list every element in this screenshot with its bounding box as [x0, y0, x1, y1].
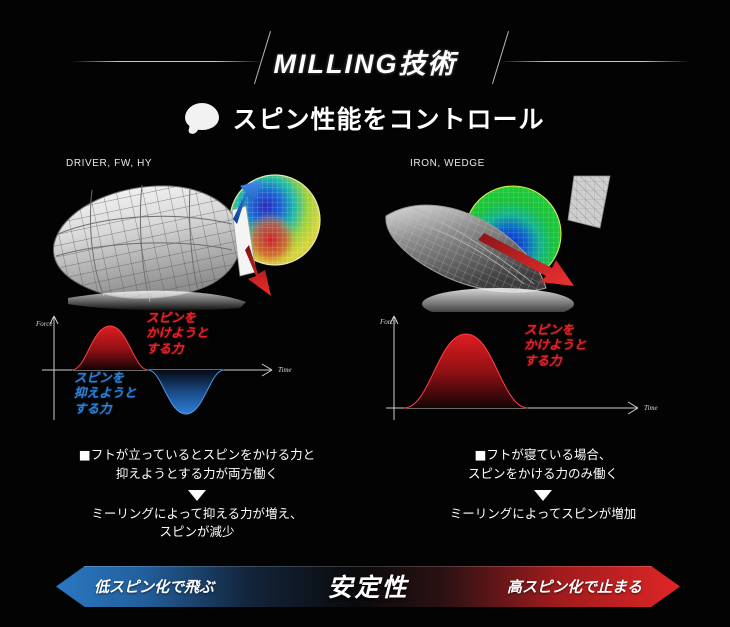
driver-annotation-red: スピンを かけようと する力 [146, 310, 209, 356]
driver-caption-top-line2: 抑えようとする力が両方働く [22, 465, 372, 484]
positive-force-lobe-iron [404, 334, 528, 408]
driver-force-axis-label: Force [35, 320, 52, 328]
iron-force-chart: Force Time スピンを かけようと する力 [380, 308, 710, 428]
driver-annotation-blue: スピンを 抑えようと する力 [74, 370, 137, 416]
speech-bubble-icon [185, 103, 219, 133]
page-root: MILLING技術 スピン性能をコントロール DRIVER, FW, HY [0, 0, 730, 627]
panel-iron: IRON, WEDGE [368, 150, 718, 560]
down-triangle-icon [534, 490, 552, 501]
panel-driver: DRIVER, FW, HY [22, 150, 372, 560]
panel-label-driver: DRIVER, FW, HY [66, 158, 152, 169]
subtitle-text: スピン性能をコントロール [232, 100, 544, 136]
header-rule-right [500, 61, 690, 62]
hosel-mesh [568, 176, 610, 228]
driver-caption-bottom-line1: ミーリングによって抑える力が増え、 [91, 506, 302, 521]
driver-caption-top-line1: ■フトが立っているとスピンをかける力と [79, 447, 315, 462]
subtitle-row: スピン性能をコントロール [0, 95, 730, 141]
iron-caption-bottom-line1: ミーリングによってスピンが増加 [450, 506, 637, 521]
panel-label-iron: IRON, WEDGE [410, 158, 485, 169]
iron-caption-top-line2: スピンをかける力のみ働く [368, 465, 718, 484]
down-triangle-icon [188, 490, 206, 501]
page-header: MILLING技術 [0, 16, 730, 76]
spin-scale-right-label: 高スピン化で止まる [507, 576, 642, 597]
driver-caption: ■フトが立っているとスピンをかける力と 抑えようとする力が両方働く ミーリングに… [22, 446, 372, 542]
iron-illustration [378, 172, 708, 312]
iron-annotation-red: スピンを かけようと する力 [524, 322, 587, 368]
driver-head-wireframe [54, 185, 242, 302]
driver-force-chart: Force Time スピンを かけようと する力 スピンを 抑えようと する力 [34, 308, 364, 428]
spin-scale-bar: 低スピン化で飛ぶ 安定性 高スピン化で止まる [56, 566, 680, 606]
iron-caption-bottom: ミーリングによってスピンが増加 [368, 505, 718, 524]
driver-caption-bottom-line2: スピンが減少 [22, 523, 372, 542]
iron-caption: ■フトが寝ている場合、 スピンをかける力のみ働く ミーリングによってスピンが増加 [368, 446, 718, 523]
driver-illustration [32, 172, 362, 312]
positive-force-lobe [72, 326, 148, 370]
iron-caption-top-line1: ■フトが寝ている場合、 [475, 447, 612, 462]
iron-time-axis-label: Time [644, 404, 658, 412]
driver-time-axis-label: Time [278, 366, 292, 374]
negative-force-lobe [148, 370, 224, 414]
driver-caption-bottom: ミーリングによって抑える力が増え、 スピンが減少 [22, 505, 372, 543]
iron-force-axis-label: Force [380, 318, 396, 326]
